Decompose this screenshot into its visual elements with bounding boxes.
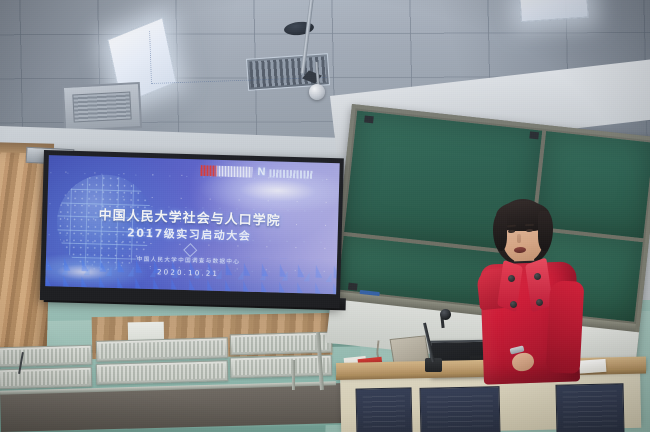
hair-right-side: [538, 211, 553, 251]
coat-button: [510, 301, 517, 308]
projection-screen: N 中国人民大学社会与人口学院 2017级实习启动大会 中国人民大学中国调查与数…: [40, 150, 344, 308]
heating-pipe-vertical: [292, 360, 295, 390]
coat-right-arm: [546, 280, 585, 374]
podium-panel: [356, 387, 413, 432]
radiator: [96, 337, 229, 362]
hair-left-side: [493, 213, 507, 251]
nose: [517, 234, 521, 243]
blue-n-logo-icon: N: [257, 167, 264, 178]
red-banner-logo-icon: [200, 165, 252, 178]
presentation-slide: N 中国人民大学社会与人口学院 2017级实习启动大会 中国人民大学中国调查与数…: [45, 155, 340, 294]
presenter: [470, 195, 595, 395]
radiator: [96, 360, 229, 385]
microphone-icon[interactable]: [440, 309, 451, 320]
ceiling-wire: [149, 25, 327, 84]
coat-button: [534, 273, 541, 280]
ceiling-ac-vent-icon: [62, 82, 142, 132]
blackboard-clip: [364, 115, 374, 123]
radiator: [0, 367, 92, 390]
ceiling-camera-icon: [309, 84, 325, 100]
blackboard-clip: [348, 283, 358, 291]
coat-button: [536, 299, 543, 306]
blackboard-clip: [529, 131, 539, 139]
blue-n-logo-wordmark: [269, 169, 313, 179]
classroom-photo: N 中国人民大学社会与人口学院 2017级实习启动大会 中国人民大学中国调查与数…: [0, 0, 650, 432]
coat-button: [508, 275, 515, 282]
radiator: [0, 345, 92, 368]
